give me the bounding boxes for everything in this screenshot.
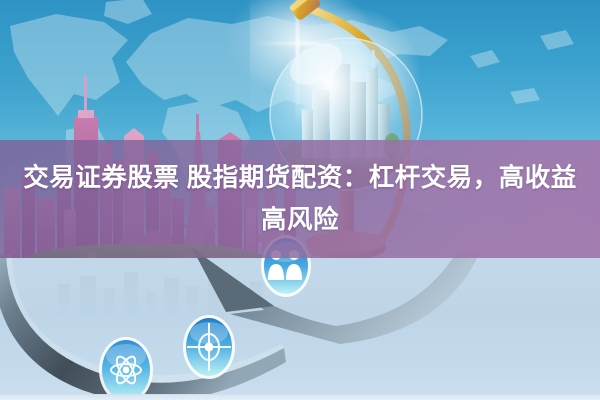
target-icon[interactable] <box>182 314 236 380</box>
headline-text-block: 交易证券股票 股指期货配资：杠杆交易，高收益 高风险 <box>0 140 600 258</box>
banner-image: 交易证券股票 股指期货配资：杠杆交易，高收益 高风险 <box>0 0 600 400</box>
headline-line-1: 交易证券股票 股指期货配资：杠杆交易，高收益 <box>23 158 577 198</box>
headline-line-2: 高风险 <box>261 200 339 240</box>
footer-strip <box>0 394 600 400</box>
atom-icon[interactable] <box>98 336 154 400</box>
